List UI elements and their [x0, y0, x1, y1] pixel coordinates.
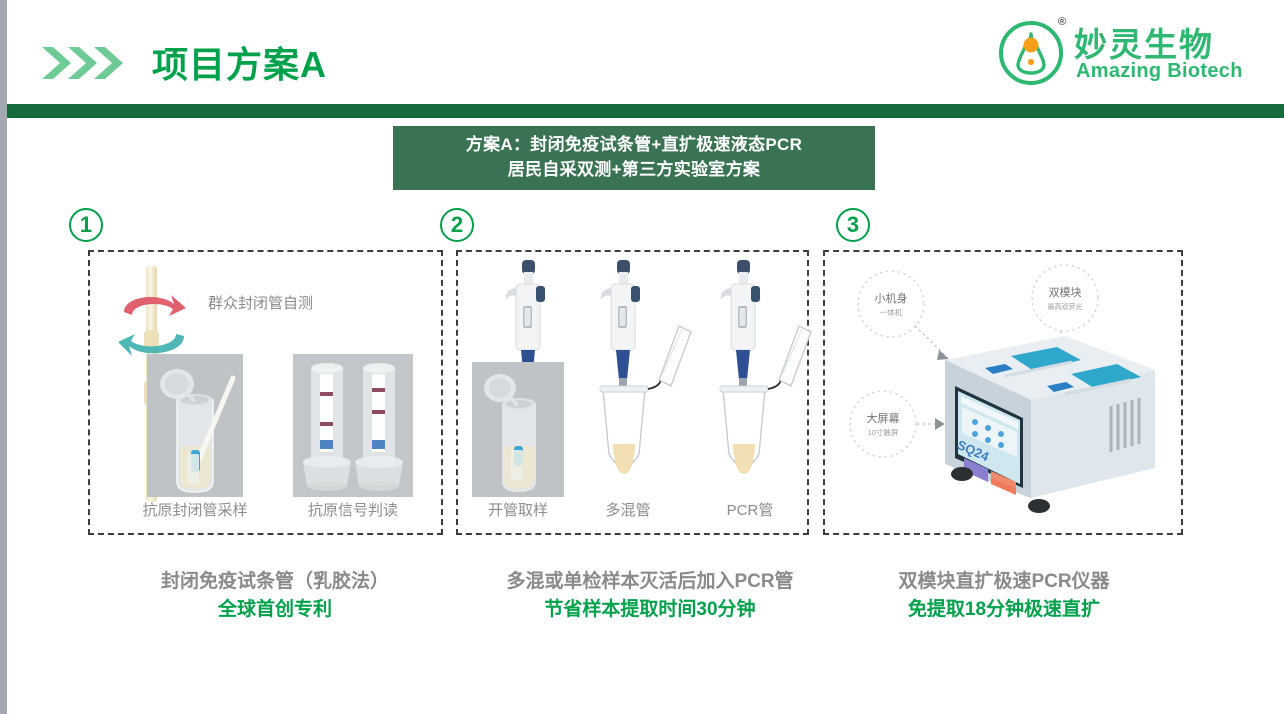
antigen-signal-readout-photo: [293, 354, 413, 497]
callout-2-subtitle: 最高双荧光: [1048, 302, 1083, 311]
closed-tube-sampling-photo: [147, 354, 243, 497]
step-number-1: 1: [69, 208, 103, 242]
scheme-banner: 方案A：封闭免疫试条管+直扩极速液态PCR 居民自采双测+第三方实验室方案: [393, 126, 875, 190]
slide-root: 项目方案A ® 妙灵生物 Amazing Biotech 方案A：封闭免疫试条管…: [0, 0, 1284, 714]
callout-3-title: 大屏幕: [867, 411, 900, 425]
callout-1-title: 小机身: [875, 291, 908, 305]
callout-2-title: 双模块: [1049, 286, 1082, 299]
step-2-summary-line1: 多混或单检样本灭活后加入PCR管: [450, 568, 850, 596]
pipette-with-pcr-tube-illustration: [713, 258, 818, 493]
company-logo: ® 妙灵生物 Amazing Biotech: [998, 14, 1248, 90]
step-panel-3: 小机身 一体机 双模块 最高双荧光 大屏幕 10寸触屏: [823, 250, 1183, 535]
panel-1-heading: 群众封闭管自测: [208, 292, 313, 313]
step-3-summary: 双模块直扩极速PCR仪器 免提取18分钟极速直扩: [820, 568, 1188, 623]
banner-line-1: 方案A：封闭免疫试条管+直扩极速液态PCR: [466, 133, 802, 158]
step-number-2: 2: [440, 208, 474, 242]
photo-caption-1a: 抗原封闭管采样: [115, 499, 275, 520]
pipette-with-multi-mix-tube-illustration: [593, 258, 698, 493]
page-title: 项目方案A: [152, 36, 327, 88]
step-2-summary-line2: 节省样本提取时间30分钟: [450, 596, 850, 624]
step-number-3: 3: [836, 208, 870, 242]
slide-header: 项目方案A ® 妙灵生物 Amazing Biotech: [7, 0, 1284, 104]
step-1-summary: 封闭免疫试条管（乳胶法） 全球首创专利: [85, 568, 465, 623]
step-1-summary-line1: 封闭免疫试条管（乳胶法）: [85, 568, 465, 596]
flask-circle-logo-icon: [998, 20, 1064, 86]
photo-caption-2c: PCR管: [690, 499, 810, 520]
banner-line-2: 居民自采双测+第三方实验室方案: [508, 158, 760, 183]
photo-caption-1b: 抗原信号判读: [273, 499, 433, 520]
step-3-summary-line1: 双模块直扩极速PCR仪器: [820, 568, 1188, 596]
callout-1-subtitle: 一体机: [880, 307, 903, 317]
step-3-summary-line2: 免提取18分钟极速直扩: [820, 596, 1188, 624]
step-2-summary: 多混或单检样本灭活后加入PCR管 节省样本提取时间30分钟: [450, 568, 850, 623]
step-panel-1: 群众封闭管自测: [88, 250, 443, 535]
step-1-summary-line2: 全球首创专利: [85, 596, 465, 624]
left-edge-strip: [0, 0, 7, 714]
photo-caption-2b: 多混管: [568, 499, 688, 520]
registered-trademark-mark: ®: [1058, 16, 1066, 28]
photo-caption-2a: 开管取样: [458, 499, 578, 520]
triple-chevron-right-icon: [40, 44, 126, 82]
logo-name-en: Amazing Biotech: [1076, 60, 1243, 83]
pcr-instrument-photo: 小机身 一体机 双模块 最高双荧光 大屏幕 10寸触屏: [825, 252, 1181, 533]
logo-name-cn: 妙灵生物: [1074, 18, 1214, 66]
callout-3-subtitle: 10寸触屏: [868, 427, 899, 437]
step-panel-2: 开管取样 多混管: [456, 250, 809, 535]
open-tube-sampling-photo: [472, 362, 564, 497]
header-divider-bar: [7, 104, 1284, 118]
